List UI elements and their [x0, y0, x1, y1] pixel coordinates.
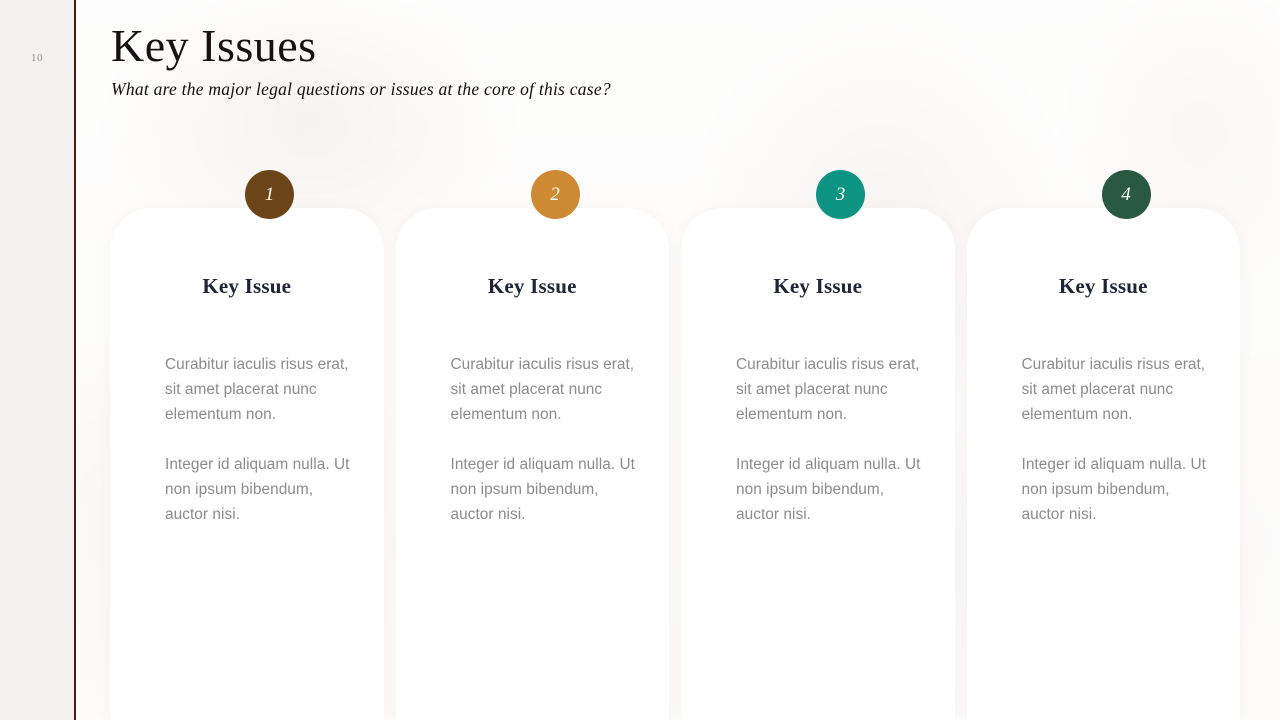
card-body: Curabitur iaculis risus erat, sit amet p…	[110, 352, 384, 527]
card-paragraph: Curabitur iaculis risus erat, sit amet p…	[165, 352, 354, 427]
card-title: Key Issue	[396, 274, 670, 299]
slide-canvas: 10 Key Issues What are the major legal q…	[0, 0, 1280, 720]
card-body: Curabitur iaculis risus erat, sit amet p…	[681, 352, 955, 527]
card-title: Key Issue	[110, 274, 384, 299]
card-paragraph: Integer id aliquam nulla. Ut non ipsum b…	[451, 452, 640, 527]
key-issue-card[interactable]: 2Key IssueCurabitur iaculis risus erat, …	[396, 208, 670, 720]
card-body: Curabitur iaculis risus erat, sit amet p…	[967, 352, 1241, 527]
left-margin-strip	[0, 0, 74, 720]
card-paragraph: Integer id aliquam nulla. Ut non ipsum b…	[736, 452, 925, 527]
card-paragraph: Integer id aliquam nulla. Ut non ipsum b…	[1022, 452, 1211, 527]
page-subtitle: What are the major legal questions or is…	[111, 79, 611, 100]
card-paragraph: Curabitur iaculis risus erat, sit amet p…	[451, 352, 640, 427]
card-number-badge: 3	[816, 170, 865, 219]
key-issue-card[interactable]: 4Key IssueCurabitur iaculis risus erat, …	[967, 208, 1241, 720]
card-title: Key Issue	[967, 274, 1241, 299]
key-issue-card[interactable]: 3Key IssueCurabitur iaculis risus erat, …	[681, 208, 955, 720]
card-number-badge: 2	[531, 170, 580, 219]
slide-number: 10	[0, 52, 74, 64]
card-title: Key Issue	[681, 274, 955, 299]
key-issue-card-row: 1Key IssueCurabitur iaculis risus erat, …	[110, 208, 1240, 720]
card-body: Curabitur iaculis risus erat, sit amet p…	[396, 352, 670, 527]
card-number-badge: 1	[245, 170, 294, 219]
vertical-rule-divider	[74, 0, 76, 720]
card-number-badge: 4	[1102, 170, 1151, 219]
card-paragraph: Curabitur iaculis risus erat, sit amet p…	[1022, 352, 1211, 427]
card-paragraph: Integer id aliquam nulla. Ut non ipsum b…	[165, 452, 354, 527]
card-paragraph: Curabitur iaculis risus erat, sit amet p…	[736, 352, 925, 427]
key-issue-card[interactable]: 1Key IssueCurabitur iaculis risus erat, …	[110, 208, 384, 720]
slide-header: Key Issues What are the major legal ques…	[111, 22, 611, 100]
page-title: Key Issues	[111, 22, 611, 70]
